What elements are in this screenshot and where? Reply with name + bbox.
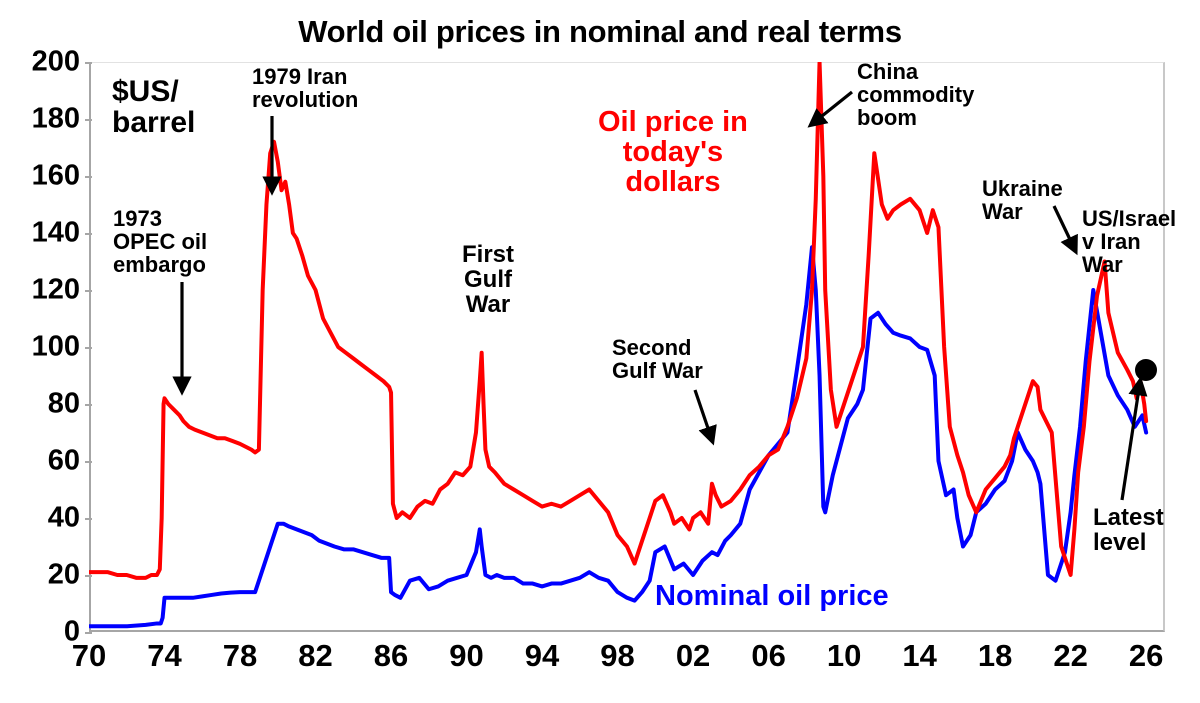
y-tick-mark bbox=[85, 347, 92, 349]
y-tick-mark bbox=[85, 575, 92, 577]
y-tick-mark bbox=[85, 176, 92, 178]
y-tick-mark bbox=[85, 233, 92, 235]
y-tick-mark bbox=[85, 518, 92, 520]
oil-price-chart: World oil prices in nominal and real ter… bbox=[0, 0, 1200, 703]
y-tick-mark bbox=[85, 62, 92, 64]
y-tick-mark bbox=[85, 404, 92, 406]
marker-latest-level bbox=[1135, 359, 1157, 381]
y-tick-mark bbox=[85, 632, 92, 634]
arrow-icon-latest-level bbox=[0, 0, 1200, 703]
annotation-nominal-oil-price: Nominal oil price bbox=[655, 581, 889, 611]
y-tick-mark bbox=[85, 461, 92, 463]
y-tick-mark bbox=[85, 290, 92, 292]
y-tick-mark bbox=[85, 119, 92, 121]
